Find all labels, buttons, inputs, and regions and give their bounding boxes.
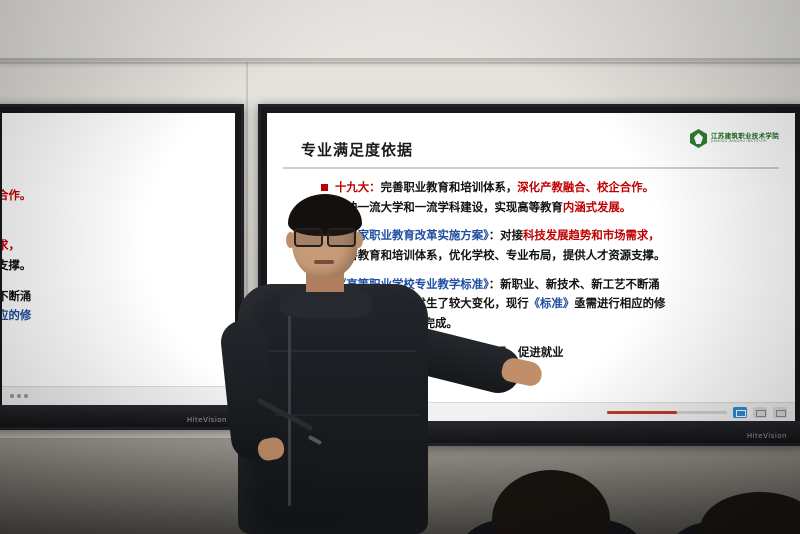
left-line-2: 教育内涵式发展。 — [2, 207, 229, 225]
left-line-5: 、新技术、新工艺不断涌 — [2, 288, 229, 306]
slide-left-text-block: 化产教融合、校企合作。 教育内涵式发展。 发展趋势和市场需求， 局，提供人才资源… — [2, 187, 229, 365]
left-line-3: 发展趋势和市场需求， — [2, 237, 229, 255]
audience-member-1 — [492, 470, 610, 534]
audience-head — [700, 492, 800, 534]
bullet-square-icon — [321, 184, 328, 191]
coat-seam — [250, 350, 416, 352]
institution-logo: 江苏建筑职业技术学院 JIANGSU JIANZHU INSTITUTE — [690, 129, 779, 148]
audience-head — [492, 470, 610, 534]
audience-member-2 — [700, 492, 800, 534]
presenter-mouth — [314, 260, 334, 264]
logo-name-en: JIANGSU JIANZHU INSTITUTE — [711, 140, 779, 144]
b2-l1-s3: 科技发展趋势和市场需求， — [523, 228, 660, 242]
b1-l1-s3: 深化产教融合、校企合作。 — [517, 180, 654, 194]
shield-icon — [690, 129, 707, 148]
presenter — [196, 200, 526, 534]
b3-l2-s2: 《标准》 — [529, 296, 575, 310]
slide-title: 专业满足度依据 — [301, 139, 413, 160]
eraser-tool-button[interactable] — [753, 407, 767, 418]
slide-title-divider — [283, 167, 779, 169]
b1-l1-s1: 十九大： — [335, 180, 381, 194]
glasses-icon — [294, 228, 356, 243]
brand-label-right: HiteVision — [747, 432, 787, 440]
b1-l1-s2: 完善职业教育和培训体系， — [381, 180, 518, 194]
slide-bullet-1: 十九大：完善职业教育和培训体系，深化产教融合、校企合作。 — [321, 179, 771, 197]
pen-tool-button[interactable] — [733, 407, 747, 418]
wall-seam-top — [0, 62, 800, 64]
toolbar-dots-icon — [10, 394, 28, 398]
photo-scene: 化产教融合、校企合作。 教育内涵式发展。 发展趋势和市场需求， 局，提供人才资源… — [0, 0, 800, 534]
left-line-1: 化产教融合、校企合作。 — [2, 187, 229, 205]
left-line-7: 展、促进就业 — [2, 345, 229, 363]
slide-progress-bar[interactable] — [607, 411, 727, 414]
b1-l2-s2: 内涵式发展。 — [563, 200, 631, 214]
ceiling — [0, 0, 800, 62]
settings-tool-button[interactable] — [773, 407, 787, 418]
b3-l2-s3: 亟需进行相应的修 — [574, 296, 665, 310]
left-line-6: 标准》亟需进行相应的修 — [2, 307, 229, 325]
left-line-4: 局，提供人才资源支撑。 — [2, 257, 229, 275]
coat-zipper — [288, 296, 291, 506]
